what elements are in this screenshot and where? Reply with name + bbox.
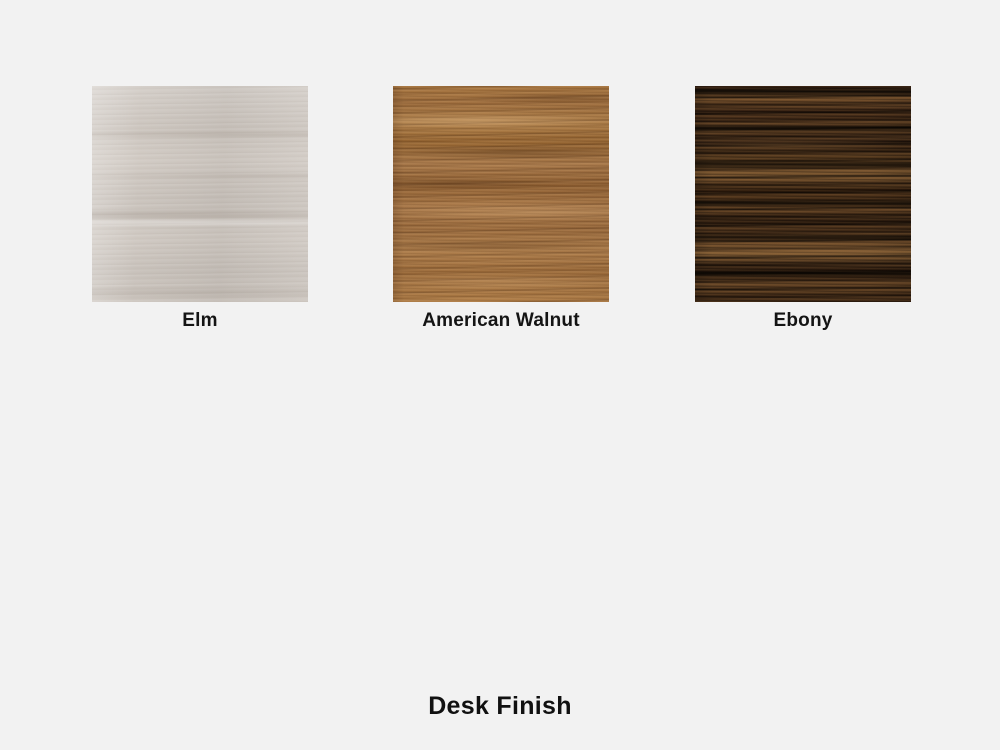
wood-grain-figure-texture (92, 86, 308, 302)
wood-grain-figure-texture (393, 86, 609, 302)
wood-grain-figure-texture (695, 86, 911, 302)
swatch-label-ebony: Ebony (695, 310, 911, 332)
elm-wood-swatch[interactable] (92, 86, 308, 302)
wood-grain-fine-texture (393, 86, 609, 302)
swatch-label-elm: Elm (92, 310, 308, 332)
wood-grain-texture (695, 86, 911, 302)
wood-grain-texture (393, 86, 609, 302)
swatch-label-american-walnut: American Walnut (393, 310, 609, 332)
wood-grain-fine-texture (695, 86, 911, 302)
wood-grain-texture (92, 86, 308, 302)
page-title: Desk Finish (0, 692, 1000, 721)
wood-grain-fine-texture (92, 86, 308, 302)
swatch-cell-american-walnut[interactable]: American Walnut (393, 86, 609, 332)
ebony-wood-swatch[interactable] (695, 86, 911, 302)
american-walnut-wood-swatch[interactable] (393, 86, 609, 302)
swatch-cell-elm[interactable]: Elm (92, 86, 308, 332)
swatch-cell-ebony[interactable]: Ebony (695, 86, 911, 332)
swatch-gallery: Elm American Walnut Ebony (0, 0, 1000, 750)
